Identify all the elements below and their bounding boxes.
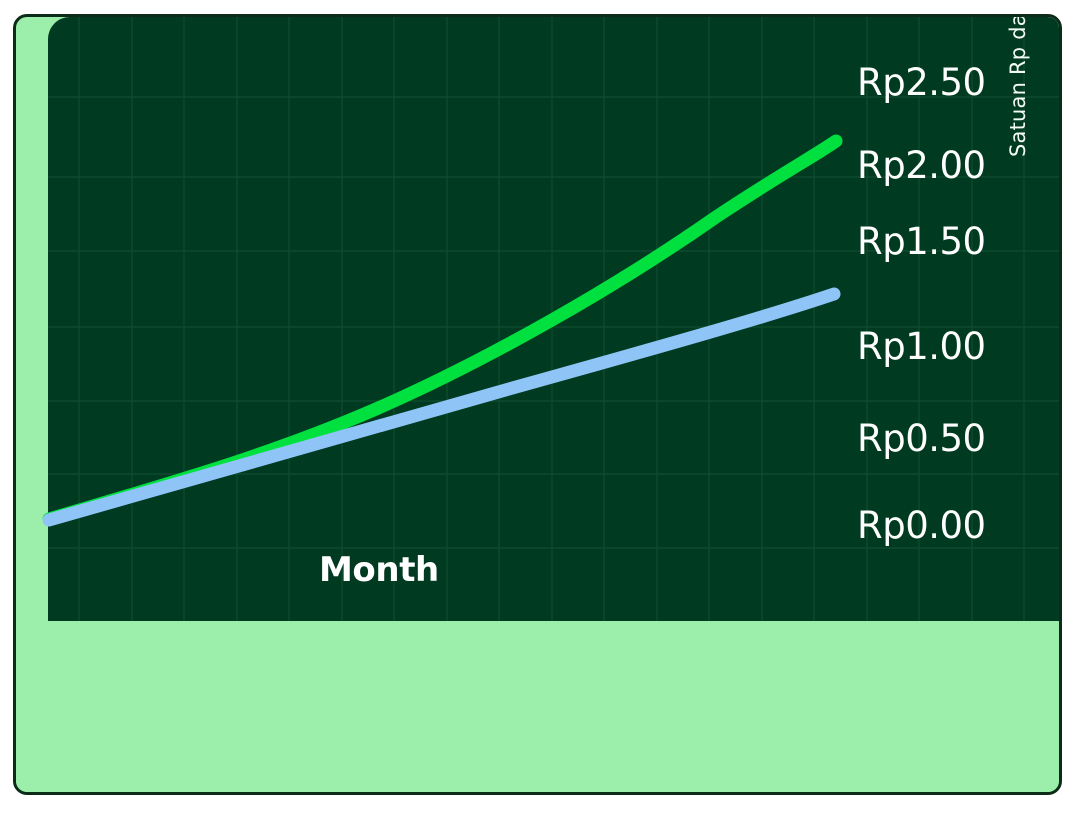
- y-tick-label-0-00: Rp0.00: [857, 504, 986, 547]
- chart-card: Rp2.50 Rp2.00 Rp1.50 Rp1.00 Rp0.50 Rp0.0…: [13, 14, 1062, 795]
- y-tick-label-1-50: Rp1.50: [857, 220, 986, 263]
- x-axis-title: Month: [319, 550, 439, 590]
- y-tick-label-0-50: Rp0.50: [857, 417, 986, 460]
- y-tick-label-2-50: Rp2.50: [857, 61, 986, 104]
- y-tick-label-1-00: Rp1.00: [857, 325, 986, 368]
- y-axis-title: Satuan Rp dalam bentuk miliar: [1006, 14, 1030, 157]
- y-tick-label-2-00: Rp2.00: [857, 144, 986, 187]
- plot-area: Rp2.50 Rp2.00 Rp1.50 Rp1.00 Rp0.50 Rp0.0…: [16, 17, 1059, 621]
- series-line-tabungan-bank: [49, 294, 834, 520]
- legend: Total investasi di Reksa Dana Pasar Uang…: [16, 621, 1059, 792]
